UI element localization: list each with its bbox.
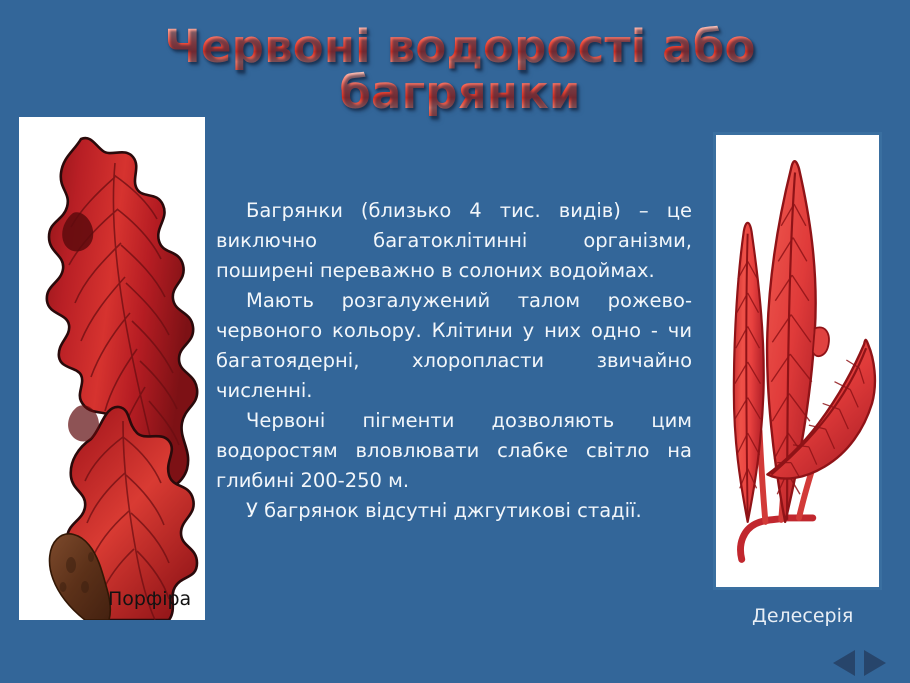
paragraph-1: Багрянки (близько 4 тис. видів) – це вик… (216, 196, 692, 286)
presentation-slide: Червоні водорості або багрянки (0, 0, 910, 683)
next-slide-arrow-icon[interactable] (864, 650, 886, 676)
figure-caption-porphyra: Порфіра (108, 588, 191, 610)
delesseria-illustration (716, 135, 879, 587)
porphyra-illustration (19, 117, 205, 620)
paragraph-2: Мають розгалужений талом рожево-червоног… (216, 286, 692, 406)
title-line-2: багрянки (150, 70, 770, 116)
slide-navigation (833, 649, 897, 677)
figure-caption-delesseria: Делесерія (752, 605, 853, 627)
figure-porphyra (19, 117, 205, 620)
paragraph-3: Червоні пігменти дозволяють цим водорост… (216, 406, 692, 496)
slide-body-text: Багрянки (близько 4 тис. видів) – це вик… (216, 196, 692, 526)
previous-slide-arrow-icon[interactable] (833, 650, 855, 676)
figure-delesseria (713, 132, 882, 590)
title-line-1: Червоні водорості або (150, 24, 770, 70)
slide-title: Червоні водорості або багрянки (150, 24, 770, 116)
paragraph-4: У багрянок відсутні джгутикові стадії. (216, 496, 692, 526)
